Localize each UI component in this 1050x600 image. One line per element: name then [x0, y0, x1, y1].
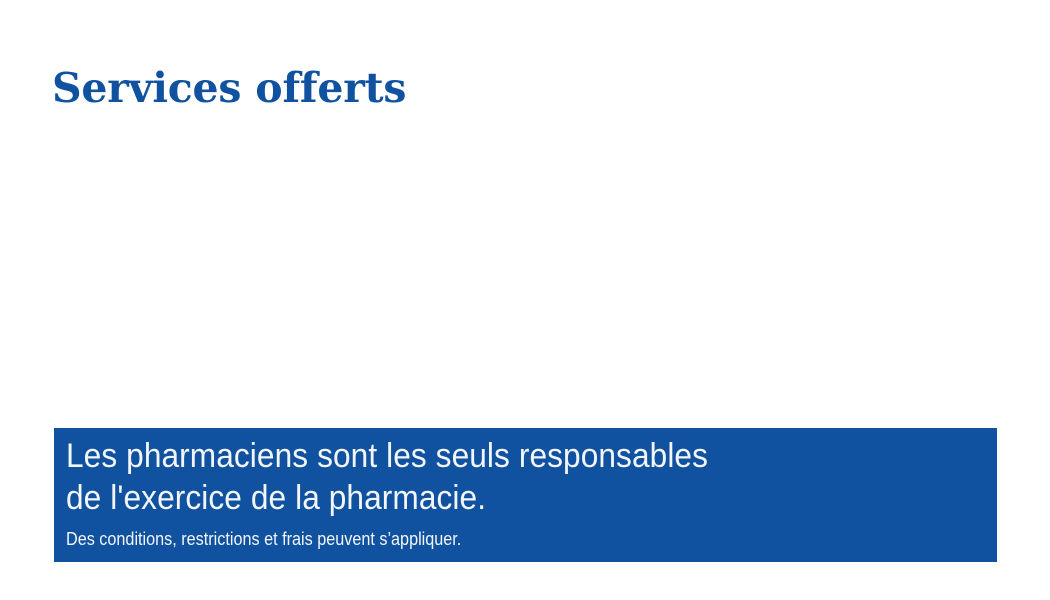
disclaimer-heading: Les pharmaciens sont les seuls responsab…	[66, 435, 912, 519]
disclaimer-banner: Les pharmaciens sont les seuls responsab…	[54, 428, 997, 562]
page-title: Services offerts	[52, 62, 406, 114]
slide-content-area	[54, 130, 997, 420]
presentation-slide: Services offerts Les pharmaciens sont le…	[0, 0, 1050, 600]
disclaimer-subtitle: Des conditions, restrictions et frais pe…	[66, 528, 885, 551]
